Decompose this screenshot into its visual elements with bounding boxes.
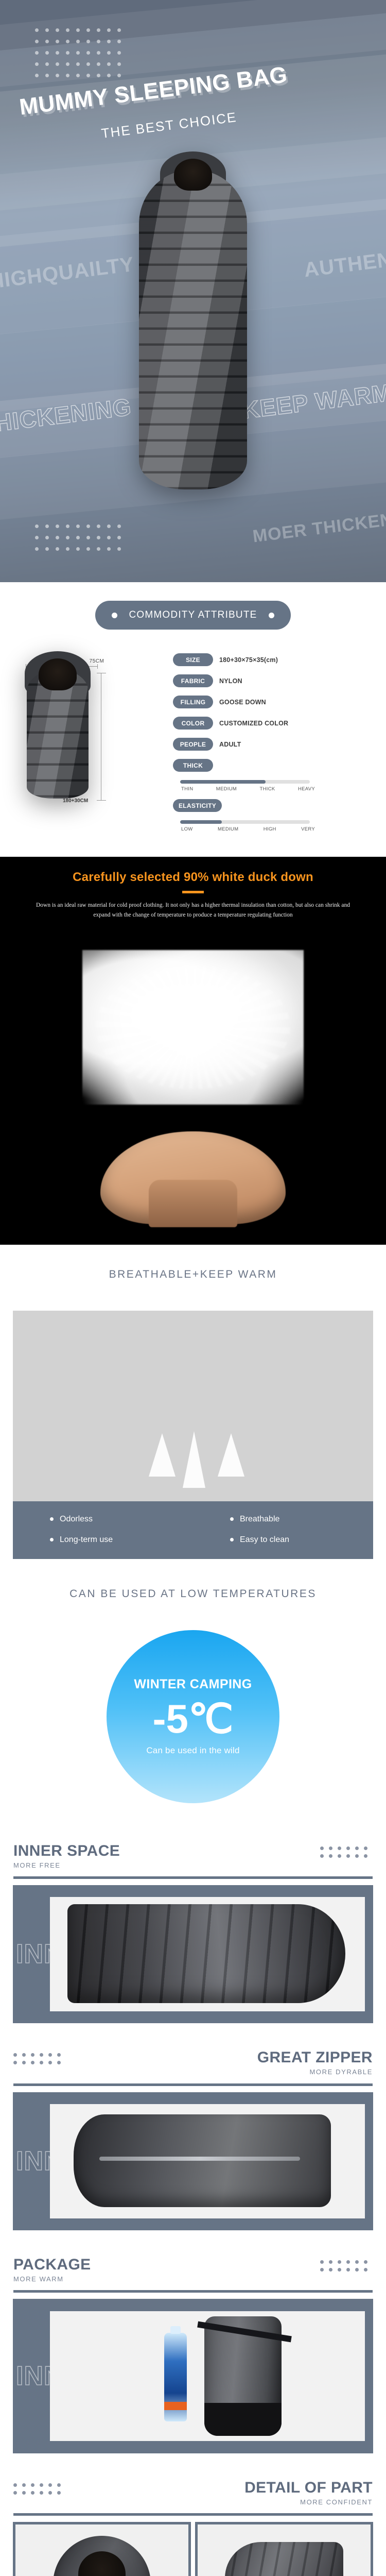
dimension-length-label: 180+30CM bbox=[63, 798, 88, 804]
attribute-row-fabric: FABRIC NYLON bbox=[173, 674, 373, 687]
gallery-subtitle: MORE DYRABLE bbox=[257, 2069, 373, 2076]
feature-label: Easy to clean bbox=[240, 1535, 289, 1545]
gallery-title: INNER SPACE bbox=[13, 1842, 120, 1859]
hero-product-image bbox=[139, 170, 247, 489]
dimension-length-group: 180+30CM bbox=[97, 673, 133, 801]
gallery-titles: DETAIL OF PART MORE CONFIDENT bbox=[244, 2479, 373, 2506]
detail-photo-hood bbox=[13, 2522, 191, 2576]
gallery-inner-space: INNER SPACE MORE FREE INNER SPACE bbox=[0, 1829, 386, 2023]
elasticity-scale-labels: LOW MEDIUM HIGH VERY bbox=[180, 826, 315, 832]
detail-photo-row bbox=[13, 2522, 373, 2576]
dot-grid-decoration bbox=[13, 2053, 66, 2069]
breathable-heading: BREATHABLE+KEEP WARM bbox=[0, 1268, 386, 1281]
dot-grid-decoration bbox=[320, 2260, 373, 2276]
gallery-subtitle: MORE FREE bbox=[13, 1862, 120, 1869]
attribute-value: 180+30×75×35(cm) bbox=[219, 656, 278, 664]
attribute-value: GOOSE DOWN bbox=[219, 699, 266, 706]
temperature-section: CAN BE USED AT LOW TEMPERATURES WINTER C… bbox=[0, 1559, 386, 1829]
hood-detail-image bbox=[53, 2536, 151, 2576]
sleeping-bag-opening bbox=[174, 159, 212, 191]
commodity-attribute-section: COMMODITY ATTRIBUTE 75CM 180+30CM bbox=[0, 582, 386, 857]
gallery-header: INNER SPACE MORE FREE bbox=[0, 1842, 386, 1869]
temperature-badge: WINTER CAMPING -5℃ Can be used in the wi… bbox=[107, 1630, 279, 1803]
scale-label: THIN bbox=[181, 786, 193, 792]
hero-banner: HIGHQUAILTY AUTHENTIC THICKENING KEEP WA… bbox=[0, 0, 386, 582]
gallery-detail-of-part: DETAIL OF PART MORE CONFIDENT bbox=[0, 2466, 386, 2576]
water-bottle-image bbox=[164, 2333, 187, 2421]
feature-label: Breathable bbox=[240, 1515, 279, 1524]
commodity-attribute-heading-label: COMMODITY ATTRIBUTE bbox=[129, 609, 257, 621]
bullet-dot-icon bbox=[50, 1517, 54, 1521]
feature-item-breathable: Breathable bbox=[193, 1515, 373, 1524]
winter-camping-label: WINTER CAMPING bbox=[134, 1677, 252, 1692]
attribute-row-thick: THICK bbox=[173, 759, 373, 772]
bullet-dot-icon bbox=[230, 1517, 234, 1521]
product-dimension-diagram: 75CM 180+30CM bbox=[13, 651, 168, 839]
gallery-photo-inner-space bbox=[50, 1897, 365, 2011]
sleeping-bag-body bbox=[139, 170, 247, 489]
attribute-value: ADULT bbox=[219, 741, 241, 748]
dot-grid-decoration bbox=[13, 2483, 66, 2499]
down-headline: Carefully selected 90% white duck down bbox=[0, 870, 386, 885]
hand-image bbox=[100, 1131, 286, 1224]
gallery-header: GREAT ZIPPER MORE DYRABLE bbox=[0, 2049, 386, 2076]
gallery-title: GREAT ZIPPER bbox=[257, 2049, 373, 2066]
arrow-up-icon bbox=[183, 1431, 205, 1488]
gallery-divider bbox=[13, 2513, 373, 2516]
temperature-value: -5℃ bbox=[153, 1698, 234, 1740]
scale-label: VERY bbox=[301, 826, 315, 832]
zipper-detail-image bbox=[74, 2114, 331, 2207]
attribute-key: PEOPLE bbox=[173, 738, 213, 751]
gallery-photo-package bbox=[50, 2311, 365, 2441]
watermark-more-thickening: MOER THICKENING bbox=[252, 506, 386, 547]
gallery-subtitle: MORE WARM bbox=[13, 2276, 91, 2283]
dimension-length-line bbox=[101, 673, 101, 801]
gallery-great-zipper: GREAT ZIPPER MORE DYRABLE INNER SPACE bbox=[0, 2036, 386, 2230]
attribute-row-filling: FILLING GOOSE DOWN bbox=[173, 696, 373, 708]
arrow-up-icon bbox=[149, 1433, 176, 1477]
gallery-titles: PACKAGE MORE WARM bbox=[13, 2256, 91, 2283]
hero-subtitle: THE BEST CHOICE bbox=[100, 109, 238, 142]
watermark-authentic: AUTHENTIC bbox=[303, 244, 386, 282]
attribute-key: SIZE bbox=[173, 653, 213, 666]
gallery-header: DETAIL OF PART MORE CONFIDENT bbox=[0, 2479, 386, 2506]
arrow-up-icon bbox=[218, 1433, 244, 1477]
gallery-divider bbox=[13, 2083, 373, 2086]
feature-item-odorless: Odorless bbox=[13, 1515, 193, 1524]
thickness-scale: THIN MEDIUM THICK HEAVY bbox=[173, 780, 373, 792]
bullet-dot-icon bbox=[230, 1538, 234, 1541]
sleeping-bag-opening bbox=[39, 658, 77, 690]
gallery-subtitle: MORE CONFIDENT bbox=[244, 2499, 373, 2506]
temperature-heading: CAN BE USED AT LOW TEMPERATURES bbox=[0, 1588, 386, 1600]
elasticity-scale-track bbox=[180, 820, 310, 824]
down-material-section: Carefully selected 90% white duck down D… bbox=[0, 857, 386, 1245]
gallery-title: DETAIL OF PART bbox=[244, 2479, 373, 2496]
commodity-attribute-heading: COMMODITY ATTRIBUTE bbox=[95, 601, 291, 630]
attribute-key: COLOR bbox=[173, 717, 213, 730]
scale-label: HIGH bbox=[264, 826, 276, 832]
gallery-frame: INNER SPACE bbox=[13, 1885, 373, 2023]
down-photo bbox=[0, 925, 386, 1245]
breathable-illustration bbox=[13, 1311, 373, 1501]
bullet-dot-icon bbox=[112, 613, 117, 618]
elasticity-scale-fill bbox=[180, 820, 222, 824]
attribute-row-people: PEOPLE ADULT bbox=[173, 738, 373, 751]
gallery-frame: INNER SPACE bbox=[13, 2092, 373, 2230]
down-description: Down is an ideal raw material for cold p… bbox=[0, 901, 386, 920]
elasticity-scale: LOW MEDIUM HIGH VERY bbox=[173, 820, 373, 832]
attribute-value: NYLON bbox=[219, 677, 242, 685]
feature-label: Odorless bbox=[60, 1515, 93, 1524]
gallery-package: PACKAGE MORE WARM INNER SPACE bbox=[0, 2243, 386, 2453]
footbox-detail-image bbox=[225, 2542, 343, 2576]
feature-label: Long-term use bbox=[60, 1535, 113, 1545]
product-thumbnail bbox=[27, 670, 89, 799]
temperature-note: Can be used in the wild bbox=[146, 1745, 239, 1756]
watermark-keep-warm: KEEP WARM bbox=[241, 378, 386, 424]
attribute-list: SIZE 180+30×75×35(cm) FABRIC NYLON FILLI… bbox=[173, 651, 373, 839]
thickness-scale-track bbox=[180, 780, 310, 784]
detail-photo-foot bbox=[195, 2522, 373, 2576]
hero-top-band bbox=[0, 0, 386, 53]
breathable-section: BREATHABLE+KEEP WARM Odorless Breathable… bbox=[0, 1245, 386, 1559]
scale-label: THICK bbox=[260, 786, 275, 792]
bullet-dot-icon bbox=[269, 613, 274, 618]
attribute-key: FABRIC bbox=[173, 674, 213, 687]
attribute-value: CUSTOMIZED COLOR bbox=[219, 720, 288, 727]
dot-grid-decoration bbox=[320, 1846, 373, 1862]
thickness-scale-fill bbox=[180, 780, 266, 784]
feather-cluster-image bbox=[82, 950, 304, 1105]
feature-list: Odorless Breathable Long-term use Easy t… bbox=[13, 1501, 373, 1559]
feature-item-long-term-use: Long-term use bbox=[13, 1535, 193, 1545]
scale-label: MEDIUM bbox=[218, 826, 238, 832]
attribute-row-elasticity: ELASTICITY bbox=[173, 799, 373, 812]
sleeping-bag-interior-image bbox=[67, 1904, 345, 2003]
gallery-frame: INNER SPACE bbox=[13, 2299, 373, 2453]
watermark-high-quality: HIGHQUAILTY bbox=[0, 253, 135, 294]
gallery-titles: INNER SPACE MORE FREE bbox=[13, 1842, 120, 1869]
watermark-thickening: THICKENING bbox=[0, 393, 133, 439]
scale-label: LOW bbox=[181, 826, 193, 832]
scale-label: MEDIUM bbox=[216, 786, 237, 792]
gallery-photo-zipper bbox=[50, 2104, 365, 2218]
down-divider bbox=[182, 891, 204, 893]
gallery-divider bbox=[13, 1876, 373, 1879]
attribute-row-size: SIZE 180+30×75×35(cm) bbox=[173, 653, 373, 666]
feature-item-easy-to-clean: Easy to clean bbox=[193, 1535, 373, 1545]
gallery-titles: GREAT ZIPPER MORE DYRABLE bbox=[257, 2049, 373, 2076]
dot-grid-decoration bbox=[35, 524, 128, 558]
attribute-key: THICK bbox=[173, 759, 213, 772]
attribute-key: FILLING bbox=[173, 696, 213, 708]
thickness-scale-labels: THIN MEDIUM THICK HEAVY bbox=[180, 786, 315, 792]
attribute-row-color: COLOR CUSTOMIZED COLOR bbox=[173, 717, 373, 730]
gallery-title: PACKAGE bbox=[13, 2256, 91, 2273]
bullet-dot-icon bbox=[50, 1538, 54, 1541]
gallery-divider bbox=[13, 2290, 373, 2293]
scale-label: HEAVY bbox=[298, 786, 315, 792]
page-title: MUMMY SLEEPING BAG bbox=[18, 62, 289, 120]
gallery-header: PACKAGE MORE WARM bbox=[0, 2256, 386, 2283]
attribute-key: ELASTICITY bbox=[173, 799, 222, 812]
wrist-image bbox=[149, 1180, 237, 1227]
